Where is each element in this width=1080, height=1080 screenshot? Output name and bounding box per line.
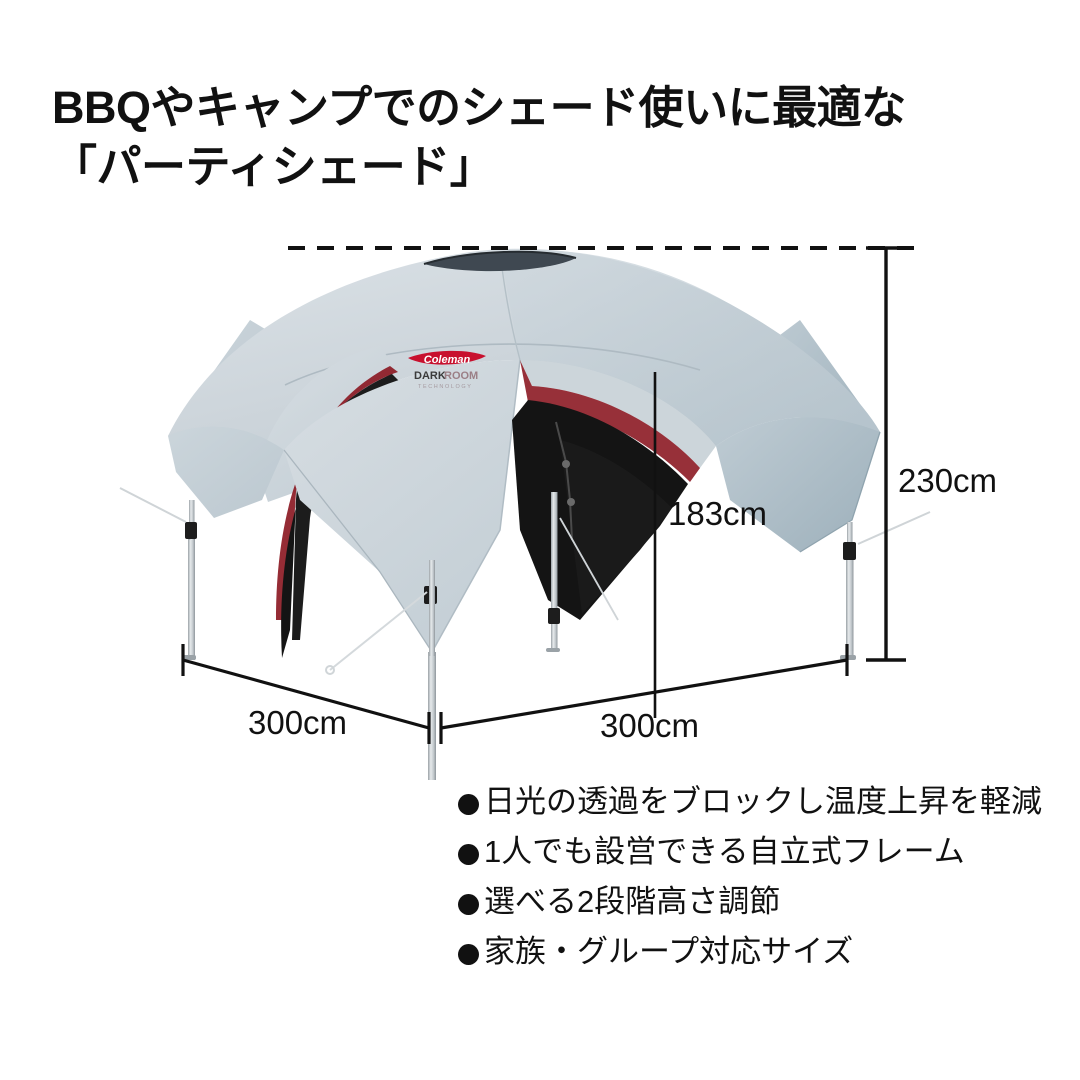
leg-rear-clamp [548, 608, 560, 624]
product-spec-image: BBQやキャンプでのシェード使いに最適な 「パーティシェード」 [0, 0, 1080, 1080]
zipper-pull-lower [567, 498, 575, 506]
feature-text: 家族・グループ対応サイズ [484, 936, 853, 967]
dimension-label-peak-height: 230cm [898, 462, 997, 500]
feature-text: 日光の透過をブロックし温度上昇を軽減 [484, 786, 1042, 817]
page-title-line-2: 「パーティシェード」 [52, 137, 992, 196]
bullet-icon [458, 844, 479, 865]
feature-text: 1人でも設営できる自立式フレーム [484, 836, 965, 867]
list-item: 家族・グループ対応サイズ [458, 936, 1058, 967]
guy-line-right [858, 512, 930, 544]
sub-brand-tag: TECHNOLOGY [418, 384, 473, 390]
list-item: 1人でも設営できる自立式フレーム [458, 836, 1058, 867]
bullet-icon [458, 794, 479, 815]
leg-right-clamp [843, 542, 856, 560]
leg-left-clamp [185, 522, 197, 539]
leg-left [182, 500, 197, 660]
dimension-label-width-left: 300cm [248, 704, 347, 742]
leg-right [840, 522, 856, 660]
list-item: 日光の透過をブロックし温度上昇を軽減 [458, 786, 1058, 817]
page-title-line-1: BBQやキャンプでのシェード使いに最適な [52, 78, 992, 137]
zipper-pull-upper [562, 460, 570, 468]
guy-line-left [120, 488, 186, 522]
feature-text: 選べる2段階高さ調節 [484, 886, 780, 917]
sub-brand-room: ROOM [444, 370, 478, 382]
list-item: 選べる2段階高さ調節 [458, 886, 1058, 917]
sub-brand-dark: DARK [414, 370, 446, 382]
guy-line-front [330, 592, 427, 670]
dimension-label-width-right: 300cm [600, 707, 699, 745]
leg-rear-foot [546, 648, 560, 652]
canopy-left-panel [168, 427, 284, 518]
brand-logo-text: Coleman [424, 354, 471, 366]
bullet-icon [458, 944, 479, 965]
bullet-icon [458, 894, 479, 915]
feature-list: 日光の透過をブロックし温度上昇を軽減 1人でも設営できる自立式フレーム 選べる2… [458, 786, 1058, 986]
page-title: BBQやキャンプでのシェード使いに最適な 「パーティシェード」 [52, 78, 992, 197]
dimension-label-arch-height: 183cm [668, 495, 767, 533]
